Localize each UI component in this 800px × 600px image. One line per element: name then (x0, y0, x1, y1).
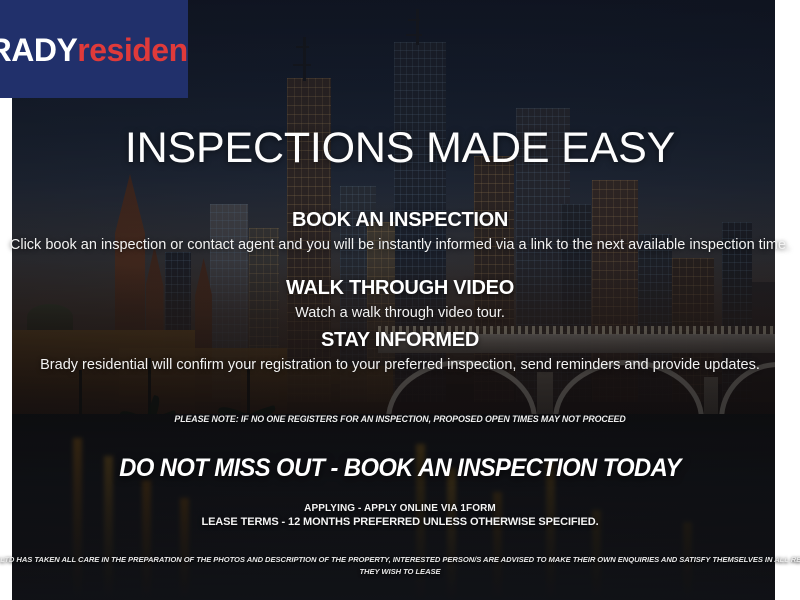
poster-canvas: BRADYresidential INSPECTIONS MADE EASY B… (0, 0, 800, 600)
logo-suffix-text: residential (77, 32, 188, 68)
logo-wordmark: BRADYresidential (0, 34, 188, 66)
section-body-book: Click book an inspection or contact agen… (0, 236, 800, 255)
section-body-video: Watch a walk through video tour. (0, 304, 800, 323)
applying-text: APPLYING - APPLY ONLINE VIA 1FORM (0, 503, 800, 514)
section-book-an-inspection: BOOK AN INSPECTION Click book an inspect… (0, 209, 800, 255)
please-note-text: PLEASE NOTE: IF NO ONE REGISTERS FOR AN … (28, 414, 772, 425)
lease-terms-text: LEASE TERMS - 12 MONTHS PREFERRED UNLESS… (0, 516, 800, 528)
section-heading-book: BOOK AN INSPECTION (0, 209, 800, 232)
section-walk-through-video: WALK THROUGH VIDEO Watch a walk through … (0, 277, 800, 323)
brady-residential-logo[interactable]: BRADYresidential (0, 0, 188, 98)
disclaimer-line-1: TY LTD HAS TAKEN ALL CARE IN THE PREPARA… (0, 555, 800, 564)
page-title: INSPECTIONS MADE EASY (0, 124, 800, 173)
section-body-informed: Brady residential will confirm your regi… (0, 356, 800, 375)
call-to-action-text: DO NOT MISS OUT - BOOK AN INSPECTION TOD… (20, 454, 780, 483)
logo-brand-text: BRADY (0, 32, 77, 68)
section-heading-video: WALK THROUGH VIDEO (0, 277, 800, 300)
legal-disclaimer: TY LTD HAS TAKEN ALL CARE IN THE PREPARA… (0, 554, 800, 578)
disclaimer-line-2: THEY WISH TO LEASE (0, 566, 800, 578)
section-stay-informed: STAY INFORMED Brady residential will con… (0, 329, 800, 375)
section-heading-informed: STAY INFORMED (0, 329, 800, 352)
